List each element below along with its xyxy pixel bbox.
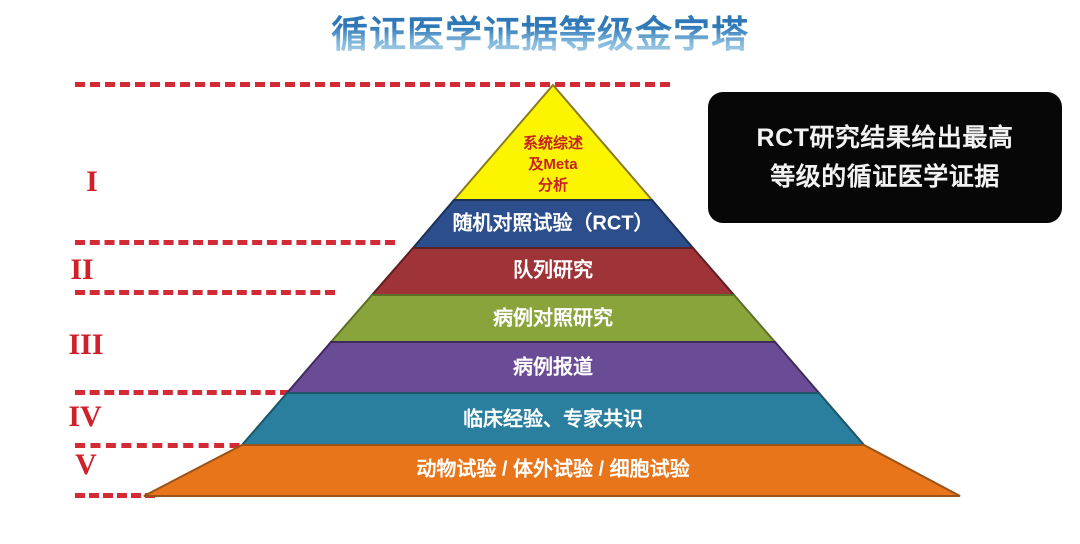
- pyramid-layer-7-label: 动物试验 / 体外试验 / 细胞试验: [416, 456, 689, 480]
- pyramid-layer-4-label: 病例对照研究: [493, 305, 613, 329]
- evidence-pyramid-slide: 循证医学证据等级金字塔 I II III IV V 系统综述 及Meta 分析 …: [0, 0, 1080, 544]
- callout-box: RCT研究结果给出最高 等级的循证医学证据: [708, 92, 1062, 223]
- pyramid-diagram: 系统综述 及Meta 分析 随机对照试验（RCT） 队列研究 病例对照研究 病例…: [0, 0, 1080, 544]
- pyramid-layer-1-label-line3: 分析: [538, 176, 568, 194]
- callout-line-2: 等级的循证医学证据: [770, 158, 1000, 197]
- callout-line-1: RCT研究结果给出最高: [757, 119, 1014, 158]
- pyramid-layer-2-label: 随机对照试验（RCT）: [452, 210, 653, 234]
- pyramid-layer-5-label: 病例报道: [513, 354, 593, 378]
- pyramid-layer-1-label-line2: 及Meta: [528, 156, 578, 173]
- pyramid-layer-1-label-line1: 系统综述: [523, 134, 583, 152]
- pyramid-layer-3-label: 队列研究: [513, 257, 593, 281]
- pyramid-layer-6-label: 临床经验、专家共识: [463, 406, 643, 430]
